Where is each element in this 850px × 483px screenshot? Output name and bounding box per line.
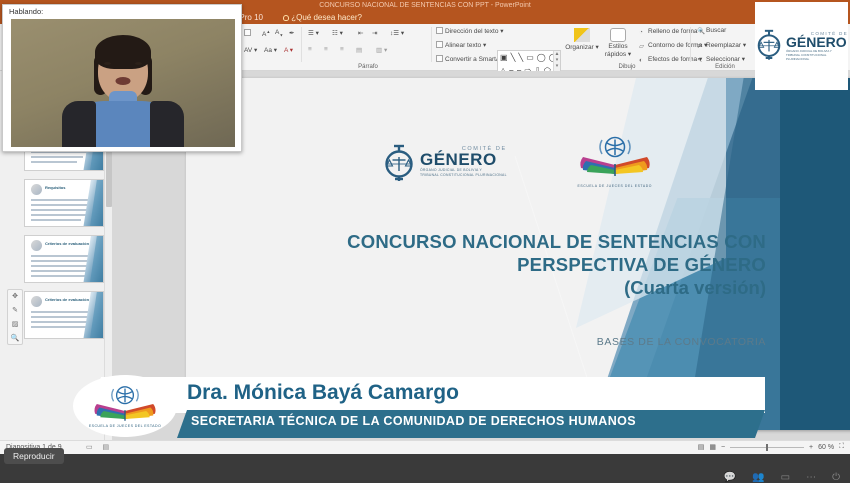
select-button[interactable]: ↖Seleccionar ▾: [697, 55, 745, 63]
zoom-level-label: 60 %: [818, 444, 834, 451]
slide-title-line1: CONCURSO NACIONAL DE SENTENCIAS CON: [336, 230, 766, 253]
ribbon-group-text-direction[interactable]: Dirección del texto ▾ Alinear texto ▾ Co…: [434, 24, 496, 71]
text-direction-button[interactable]: Dirección del texto ▾: [436, 27, 504, 35]
search-icon: 🔍: [697, 27, 704, 34]
logo-organo-line2: TRIBUNAL CONSTITUCIONAL PLURINACIONAL: [420, 173, 507, 178]
speaker-lower-third-banner: Dra. Mónica Bayá Camargo SECRETARIA TÉCN…: [65, 377, 765, 445]
smartart-icon: [436, 55, 443, 62]
vest-right: [150, 101, 184, 147]
bullets-icon[interactable]: ☰ ▾: [308, 29, 319, 37]
slide-thumbnail-6[interactable]: 6 Criterios de evaluación: [24, 291, 104, 339]
screen-root: CONCURSO NACIONAL DE SENTENCIAS CON PPT …: [0, 0, 850, 483]
play-tooltip: Reproducir: [4, 448, 64, 464]
ribbon-group-paragraph[interactable]: ☰ ▾ ☷ ▾ ⇤ ⇥ ↕☰ ▾ ≡ ≡ ≡ ▤ ▥ ▾ Párrafo: [304, 24, 432, 71]
quick-styles-label: Estilos rápidos: [605, 43, 628, 58]
align-center-icon[interactable]: ≡: [324, 46, 328, 53]
banner-escuela-logo: ESCUELA DE JUECES DEL ESTADO: [73, 375, 177, 437]
arrange-button[interactable]: Organizar ▾: [565, 26, 599, 51]
slide-thumbnail-5[interactable]: 5 Criterios de evaluación: [24, 235, 104, 283]
app-bottom-bar[interactable]: Reproducir 💬 👥 ▭ ⋯ ⏻: [0, 454, 850, 483]
participants-icon[interactable]: 👥: [752, 472, 764, 483]
arrange-icon: [574, 28, 590, 42]
slide-thumbnail-4[interactable]: 4 Requisitos: [24, 179, 104, 227]
shapes-row-1[interactable]: ▣ ╲ ╲ ▭ ◯ ◯: [498, 51, 560, 64]
select-label: Seleccionar: [706, 56, 740, 63]
end-call-icon[interactable]: ⏻: [832, 472, 840, 483]
eye-right: [135, 62, 142, 65]
fit-slide-icon[interactable]: ⛶: [839, 443, 844, 451]
rectangle-shape-icon[interactable]: ▭: [526, 54, 534, 62]
group-divider: [431, 27, 432, 62]
pointer-tool-icon[interactable]: ✥: [8, 290, 22, 304]
speaker-role: SECRETARIA TÉCNICA DE LA COMUNIDAD DE DE…: [191, 414, 636, 428]
escuela-book-icon: [573, 136, 657, 183]
overlay-comite-genero-logo: COMITÉ DE GÉNERO ÓRGANO JUDICIAL DE BOLI…: [755, 2, 848, 90]
logo-genero-label: GÉNERO: [420, 152, 507, 168]
speaker-name: Dra. Mónica Bayá Camargo: [187, 381, 459, 405]
lightbulb-icon: [283, 15, 289, 21]
numbering-icon[interactable]: ☷ ▾: [332, 29, 343, 37]
overlay-logo-genero: GÉNERO: [786, 36, 848, 49]
align-text-button[interactable]: Alinear texto ▾: [436, 41, 486, 49]
eye-left: [104, 62, 111, 65]
align-right-icon[interactable]: ≡: [340, 46, 344, 53]
slide-subtitle: BASES DE LA CONVOCATORIA: [386, 336, 766, 348]
textbox-shape-icon[interactable]: ▣: [500, 54, 508, 62]
slide-title: CONCURSO NACIONAL DE SENTENCIAS CON PERS…: [336, 230, 766, 299]
speaker-video-figure: [60, 37, 186, 147]
ribbon-group-editing[interactable]: 🔍Buscar ⇄Reemplazar ▾ ↖Seleccionar ▾ Edi…: [693, 24, 757, 71]
ribbon-group-editing-label: Edición: [693, 64, 757, 70]
replace-icon: ⇄: [697, 42, 704, 49]
thumbnail-badge-icon: [31, 296, 42, 307]
app-bar-icons[interactable]: 💬 👥 ▭ ⋯ ⏻: [724, 472, 840, 483]
align-text-label: Alinear texto: [445, 42, 481, 49]
replace-button[interactable]: ⇄Reemplazar ▾: [697, 41, 746, 49]
tell-me-box[interactable]: ¿Qué desea hacer?: [274, 11, 371, 24]
character-spacing-icon[interactable]: AV ▾: [244, 46, 257, 54]
ribbon-group-paragraph-label: Párrafo: [304, 64, 432, 70]
decrease-indent-icon[interactable]: ⇤: [358, 29, 363, 37]
decrease-font-icon[interactable]: A▼: [275, 29, 283, 37]
align-left-icon[interactable]: ≡: [308, 46, 312, 53]
speaking-label: Hablando:: [9, 7, 43, 16]
scales-of-justice-icon: [382, 142, 416, 182]
quick-styles-icon: [610, 28, 626, 42]
line-spacing-icon[interactable]: ↕☰ ▾: [390, 29, 404, 37]
change-case-icon[interactable]: Aa ▾: [264, 46, 277, 54]
slide-thumbnail-title: Criterios de evaluación: [45, 297, 89, 302]
quick-styles-button[interactable]: Estilos rápidos ▾: [601, 26, 635, 58]
thumbnail-badge-icon: [31, 184, 42, 195]
group-divider: [690, 27, 691, 62]
vest-left: [62, 101, 96, 147]
line-shape-icon[interactable]: ╲: [511, 54, 516, 62]
font-size-box-icon[interactable]: [244, 29, 251, 36]
increase-indent-icon[interactable]: ⇥: [372, 29, 377, 37]
zoom-slider[interactable]: [730, 447, 804, 448]
banner-logo-caption: ESCUELA DE JUECES DEL ESTADO: [89, 424, 161, 428]
text-direction-label: Dirección del texto: [445, 28, 498, 35]
share-screen-icon[interactable]: ▭: [781, 472, 790, 483]
group-divider: [301, 27, 302, 62]
convert-smartart-label: Convertir a SmartArt: [445, 56, 504, 63]
font-color-icon[interactable]: A ▾: [284, 46, 293, 54]
escuela-logo-caption: ESCUELA DE JUECES DEL ESTADO: [573, 184, 657, 188]
more-options-icon[interactable]: ⋯: [806, 472, 816, 483]
shape-outline-icon: ▱: [639, 42, 646, 49]
find-label: Buscar: [706, 27, 726, 34]
escuela-jueces-logo: ESCUELA DE JUECES DEL ESTADO: [573, 136, 657, 188]
ribbon-group-font[interactable]: A▲ A▼ ✒ AV ▾ Aa ▾ A ▾: [242, 24, 302, 71]
zoom-in-button[interactable]: +: [809, 444, 813, 451]
slide-title-line3: (Cuarta versión): [336, 276, 766, 299]
find-button[interactable]: 🔍Buscar: [697, 27, 726, 34]
arrow-shape-icon[interactable]: ╲: [518, 54, 523, 62]
ribbon-group-drawing-label: Dibujo: [563, 64, 691, 70]
overlay-scales-icon: [755, 27, 783, 66]
shape-effects-icon: ◐: [639, 57, 646, 64]
arrange-label: Organizar: [565, 44, 594, 51]
mouth: [116, 77, 131, 85]
clear-formatting-icon[interactable]: ✒: [289, 29, 294, 37]
zoom-tool-icon[interactable]: 🔍: [8, 332, 22, 346]
tell-me-label: ¿Qué desea hacer?: [291, 13, 362, 22]
columns-icon[interactable]: ▥ ▾: [376, 46, 387, 54]
zoom-slider-handle[interactable]: [766, 444, 768, 451]
pen-tool-icon[interactable]: ✎: [8, 304, 22, 318]
ribbon-group-drawing[interactable]: Organizar ▾ Estilos rápidos ▾ ◔Relleno d…: [563, 24, 691, 71]
cursor-select-icon: ↖: [697, 56, 704, 63]
comite-genero-logo: COMITÉ DE GÉNERO ÓRGANO JUDICIAL DE BOLI…: [382, 142, 507, 182]
chat-icon[interactable]: 💬: [724, 472, 736, 483]
justify-icon[interactable]: ▤: [356, 46, 362, 54]
slide-logo-row: COMITÉ DE GÉNERO ÓRGANO JUDICIAL DE BOLI…: [382, 136, 657, 188]
thumbnail-mini-toolbar[interactable]: ✥ ✎ ▨ 🔍: [7, 289, 23, 345]
banner-book-icon: [88, 385, 162, 423]
highlight-tool-icon[interactable]: ▨: [8, 318, 22, 332]
text-direction-icon: [436, 27, 443, 34]
thumbnail-badge-icon: [31, 240, 42, 251]
shape-fill-icon: ◔: [639, 29, 646, 36]
oval-shape-icon[interactable]: ◯: [537, 54, 546, 62]
overlay-logo-organo2: TRIBUNAL CONSTITUCIONAL PLURINACIONAL: [786, 53, 848, 61]
replace-label: Reemplazar: [706, 42, 741, 49]
webcam-video-feed[interactable]: [11, 19, 235, 147]
slide-thumbnail-title: Criterios de evaluación: [45, 241, 89, 246]
slide-thumbnail-title: Requisitos: [45, 185, 65, 190]
webcam-panel[interactable]: Hablando:: [2, 4, 242, 152]
align-text-icon: [436, 41, 443, 48]
slide-title-line2: PERSPECTIVA DE GÉNERO: [336, 253, 766, 276]
increase-font-icon[interactable]: A▲: [262, 29, 270, 38]
